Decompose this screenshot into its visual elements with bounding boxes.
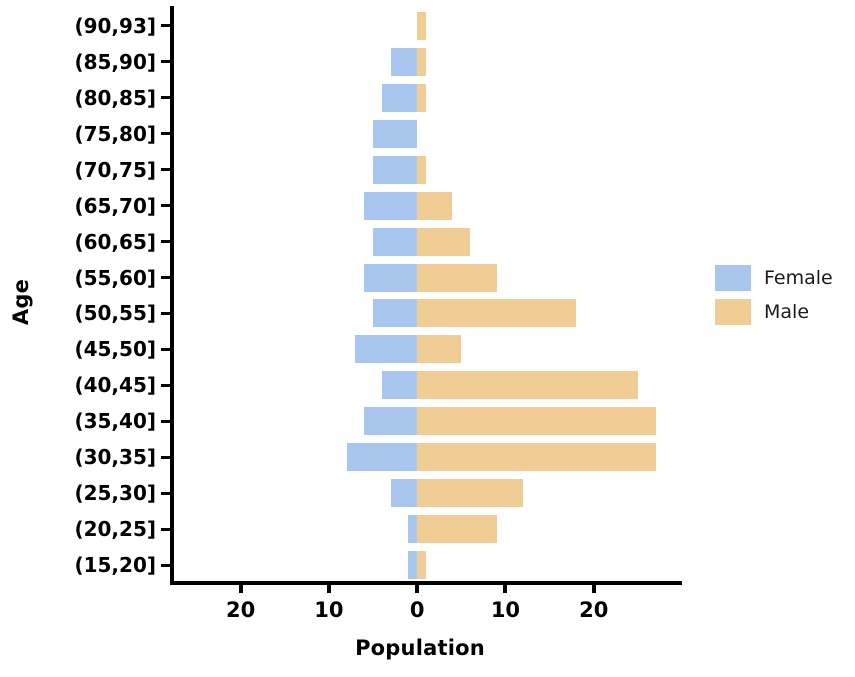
- bar-female: [364, 264, 417, 292]
- bar-male: [417, 335, 461, 363]
- bar-female: [373, 299, 417, 327]
- x-axis-title: Population: [170, 636, 670, 660]
- bar-female: [373, 120, 417, 148]
- y-axis-tick: [161, 132, 170, 135]
- bar-female: [355, 335, 417, 363]
- x-axis-tick-label: 20: [579, 598, 608, 622]
- y-axis-tick-label: (55,60]: [74, 266, 156, 290]
- population-pyramid-figure: Age Population (15,20](20,25](25,30](30,…: [0, 0, 855, 677]
- y-axis-title: Age: [9, 257, 33, 347]
- y-axis-tick-label: (65,70]: [74, 194, 156, 218]
- bar-male: [417, 299, 576, 327]
- bar-female: [391, 48, 417, 76]
- legend-item-male: Male: [715, 295, 845, 329]
- y-axis-tick: [161, 60, 170, 63]
- y-axis-tick: [161, 204, 170, 207]
- y-axis-tick-label: (60,65]: [74, 230, 156, 254]
- bar-female: [364, 407, 417, 435]
- y-axis-tick-label: (40,45]: [74, 373, 156, 397]
- y-axis-tick: [161, 312, 170, 315]
- x-axis-tick-label: 20: [226, 598, 255, 622]
- x-axis-tick-label: 0: [410, 598, 425, 622]
- y-axis-tick: [161, 276, 170, 279]
- chart-legend: Female Male: [715, 261, 845, 329]
- y-axis-tick: [161, 348, 170, 351]
- bar-female: [347, 443, 418, 471]
- y-axis-tick: [161, 168, 170, 171]
- y-axis-tick: [161, 240, 170, 243]
- bar-female: [408, 515, 417, 543]
- y-axis-tick-label: (50,55]: [74, 301, 156, 325]
- x-axis-tick: [239, 581, 243, 593]
- bar-male: [417, 407, 655, 435]
- legend-label-male: Male: [764, 301, 809, 323]
- bar-male: [417, 551, 426, 579]
- bar-male: [417, 443, 655, 471]
- y-axis-tick: [161, 96, 170, 99]
- y-axis-tick: [161, 420, 170, 423]
- legend-swatch-male: [715, 299, 751, 325]
- bar-male: [417, 515, 496, 543]
- y-axis-tick: [161, 492, 170, 495]
- plot-area: (15,20](20,25](25,30](30,35](35,40](40,4…: [170, 8, 682, 583]
- bar-female: [373, 156, 417, 184]
- x-axis-tick: [415, 581, 419, 593]
- bar-male: [417, 48, 426, 76]
- y-axis-tick: [161, 384, 170, 387]
- y-axis-tick-label: (25,30]: [74, 481, 156, 505]
- legend-item-female: Female: [715, 261, 845, 295]
- y-axis-tick: [161, 564, 170, 567]
- y-axis-tick-label: (15,20]: [74, 553, 156, 577]
- y-axis-tick-label: (70,75]: [74, 158, 156, 182]
- bar-male: [417, 264, 496, 292]
- bar-female: [408, 551, 417, 579]
- bar-male: [417, 156, 426, 184]
- bar-male: [417, 371, 638, 399]
- y-axis-tick: [161, 528, 170, 531]
- x-axis-tick: [327, 581, 331, 593]
- x-axis-tick: [503, 581, 507, 593]
- y-axis-tick-label: (20,25]: [74, 517, 156, 541]
- bar-female: [382, 84, 417, 112]
- bar-female: [364, 192, 417, 220]
- bar-female: [382, 371, 417, 399]
- bar-female: [391, 479, 417, 507]
- x-axis-tick-label: 10: [314, 598, 343, 622]
- legend-label-female: Female: [764, 267, 833, 289]
- x-axis-tick-label: 10: [491, 598, 520, 622]
- y-axis-tick-label: (35,40]: [74, 409, 156, 433]
- y-axis-tick-label: (30,35]: [74, 445, 156, 469]
- y-axis-tick: [161, 24, 170, 27]
- y-axis-tick-label: (85,90]: [74, 50, 156, 74]
- y-axis-tick-label: (45,50]: [74, 337, 156, 361]
- bar-female: [373, 228, 417, 256]
- y-axis-tick: [161, 456, 170, 459]
- x-axis-tick: [592, 581, 596, 593]
- bar-male: [417, 192, 452, 220]
- y-axis-tick-label: (90,93]: [74, 14, 156, 38]
- bar-male: [417, 228, 470, 256]
- bar-male: [417, 479, 523, 507]
- bar-male: [417, 84, 426, 112]
- y-axis-tick-label: (75,80]: [74, 122, 156, 146]
- y-axis-tick-label: (80,85]: [74, 86, 156, 110]
- bar-male: [417, 12, 426, 40]
- legend-swatch-female: [715, 265, 751, 291]
